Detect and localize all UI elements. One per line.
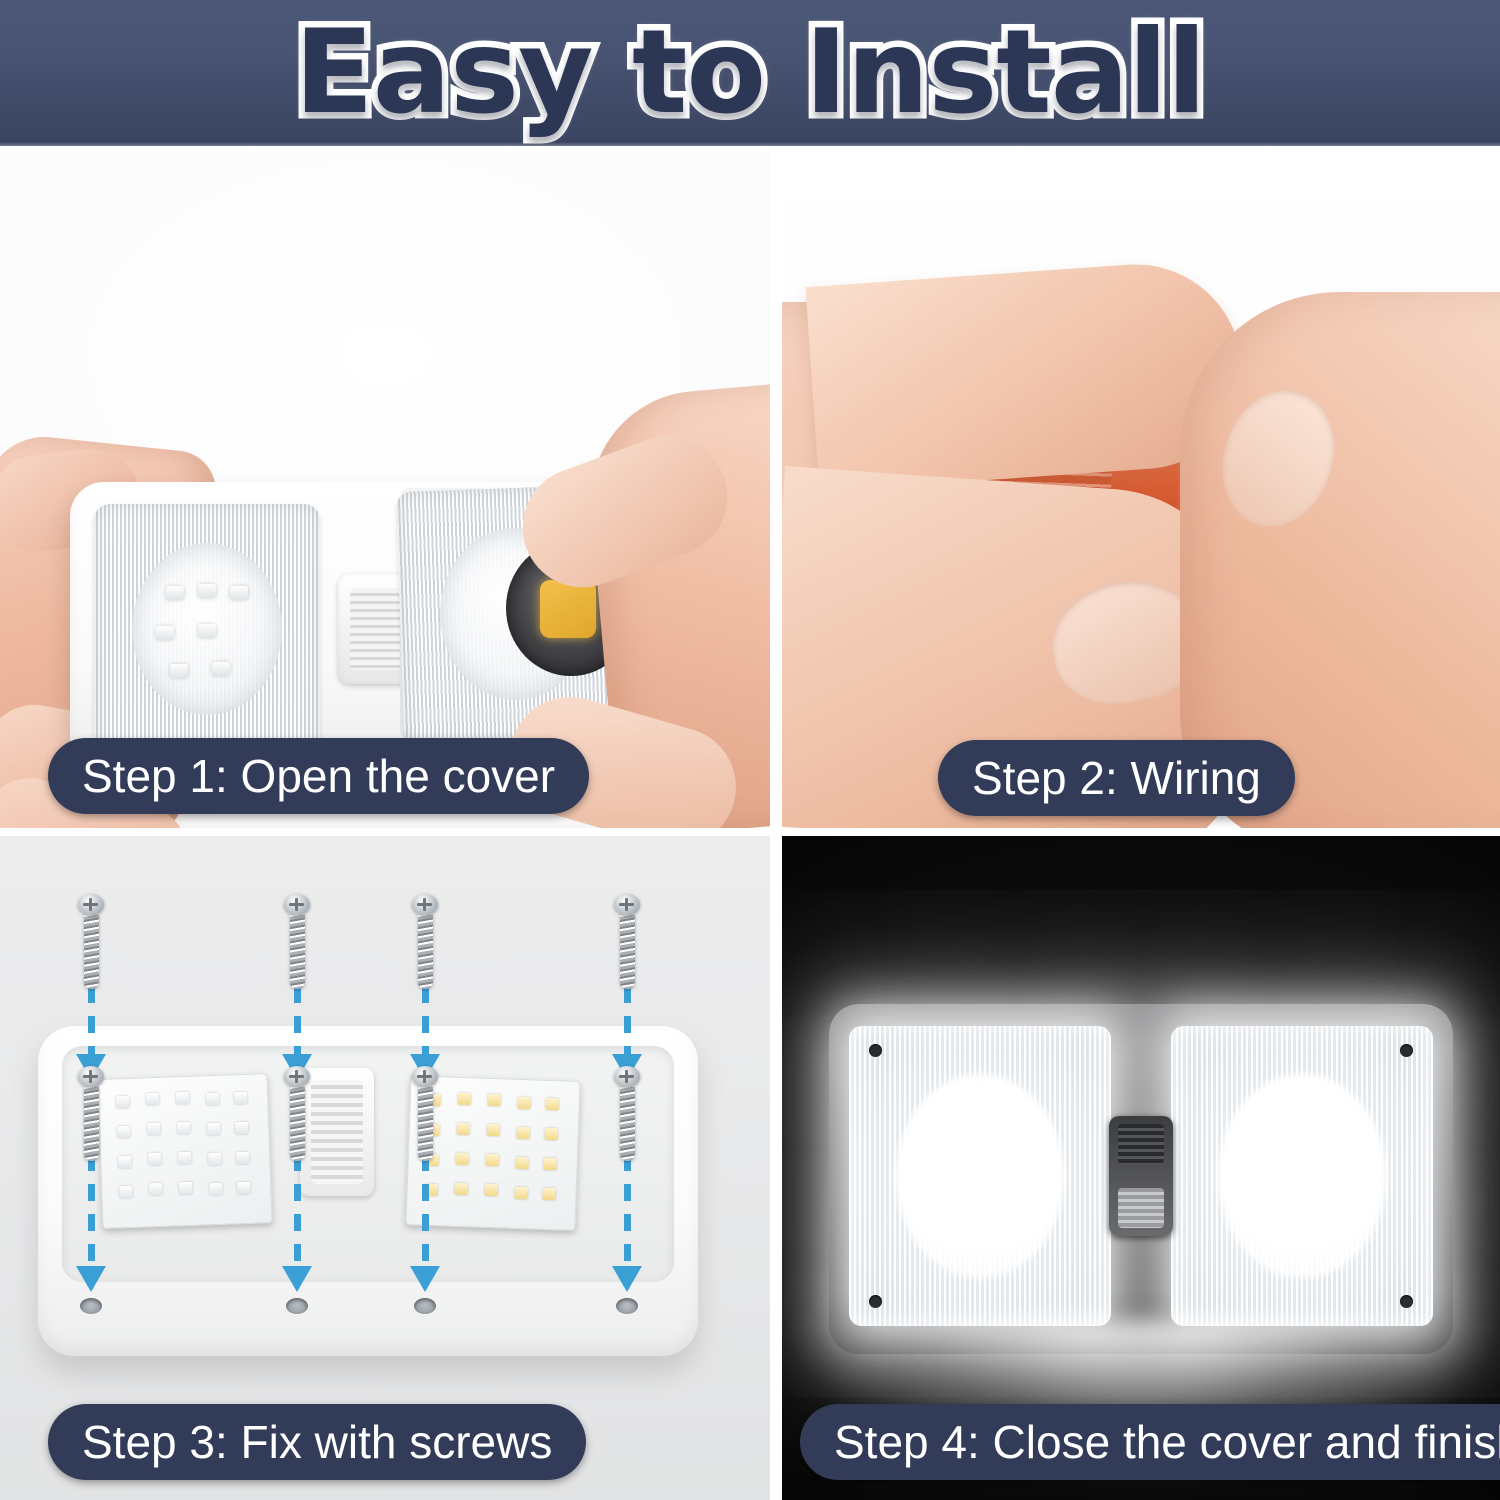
led-chip	[198, 584, 216, 598]
guide-dashed-line	[294, 1154, 301, 1274]
guide-dashed-line	[88, 986, 95, 1056]
screw-head-phillips	[412, 1066, 438, 1087]
seated-screw	[614, 1066, 640, 1161]
seated-screw	[284, 1066, 310, 1161]
down-arrow-icon	[282, 1266, 312, 1292]
screw-shaft	[290, 915, 305, 989]
corner-mount-hole	[616, 1298, 638, 1314]
led-chip	[166, 586, 184, 600]
down-arrow-icon	[410, 1266, 440, 1292]
step-1-photo-panel	[0, 152, 770, 828]
guide-dashed-line	[422, 1154, 429, 1274]
corner-screw	[869, 1295, 882, 1308]
step-2-label: Step 2: Wiring	[938, 740, 1295, 816]
rocker-switch[interactable]	[1109, 1116, 1173, 1236]
screw-head-phillips	[614, 1066, 640, 1087]
mounting-screw	[284, 894, 310, 989]
fixture-base-housing	[38, 1026, 698, 1356]
screw-head-phillips	[78, 894, 104, 915]
screw-head-phillips	[284, 894, 310, 915]
screw-shaft	[620, 1087, 635, 1161]
guide-dashed-line	[294, 986, 301, 1056]
screw-head-phillips	[78, 1066, 104, 1087]
mounting-screw	[614, 894, 640, 989]
corner-screw	[1400, 1044, 1413, 1057]
down-arrow-icon	[76, 1266, 106, 1292]
screw-shaft	[418, 1087, 433, 1161]
installed-dome-light	[829, 1004, 1453, 1354]
guide-dashed-line	[422, 986, 429, 1056]
screw-head-phillips	[284, 1066, 310, 1087]
left-lens-cover	[94, 504, 320, 754]
screw-shaft	[290, 1087, 305, 1161]
guide-dashed-line	[88, 1154, 95, 1274]
step-4-label: Step 4: Close the cover and finish	[800, 1404, 1500, 1480]
screw-shaft	[84, 915, 99, 989]
step-4-photo-panel	[782, 836, 1500, 1500]
screw-shaft	[620, 915, 635, 989]
corner-mount-hole	[286, 1298, 308, 1314]
step-2-photo-panel	[782, 152, 1500, 828]
right-lens-illuminated	[1171, 1026, 1433, 1326]
mounting-screw	[412, 894, 438, 989]
led-chip	[198, 624, 216, 638]
seated-screw	[412, 1066, 438, 1161]
guide-dashed-line	[624, 1154, 631, 1274]
corner-mount-hole	[80, 1298, 102, 1314]
led-chip	[170, 664, 188, 678]
mounting-screw	[78, 894, 104, 989]
step-3-label: Step 3: Fix with screws	[48, 1404, 586, 1480]
led-chip	[212, 662, 230, 676]
screw-head-phillips	[412, 894, 438, 915]
screw-shaft	[418, 915, 433, 989]
led-chip	[230, 586, 248, 600]
screw-shaft	[84, 1087, 99, 1161]
down-arrow-icon	[612, 1266, 642, 1292]
infographic-page: Easy to Install	[0, 0, 1500, 1500]
left-lens-illuminated	[849, 1026, 1111, 1326]
led-chip	[156, 626, 174, 640]
step-1-label: Step 1: Open the cover	[48, 738, 589, 814]
step-3-diagram-panel	[0, 836, 770, 1500]
header-banner: Easy to Install	[0, 0, 1500, 146]
rocker-switch[interactable]	[300, 1068, 374, 1196]
seated-screw	[78, 1066, 104, 1161]
guide-dashed-line	[624, 986, 631, 1056]
led-board-left	[97, 1073, 272, 1229]
screw-head-phillips	[614, 894, 640, 915]
corner-screw	[869, 1044, 882, 1057]
corner-screw	[1400, 1295, 1413, 1308]
corner-mount-hole	[414, 1298, 436, 1314]
page-title: Easy to Install	[0, 15, 1500, 131]
